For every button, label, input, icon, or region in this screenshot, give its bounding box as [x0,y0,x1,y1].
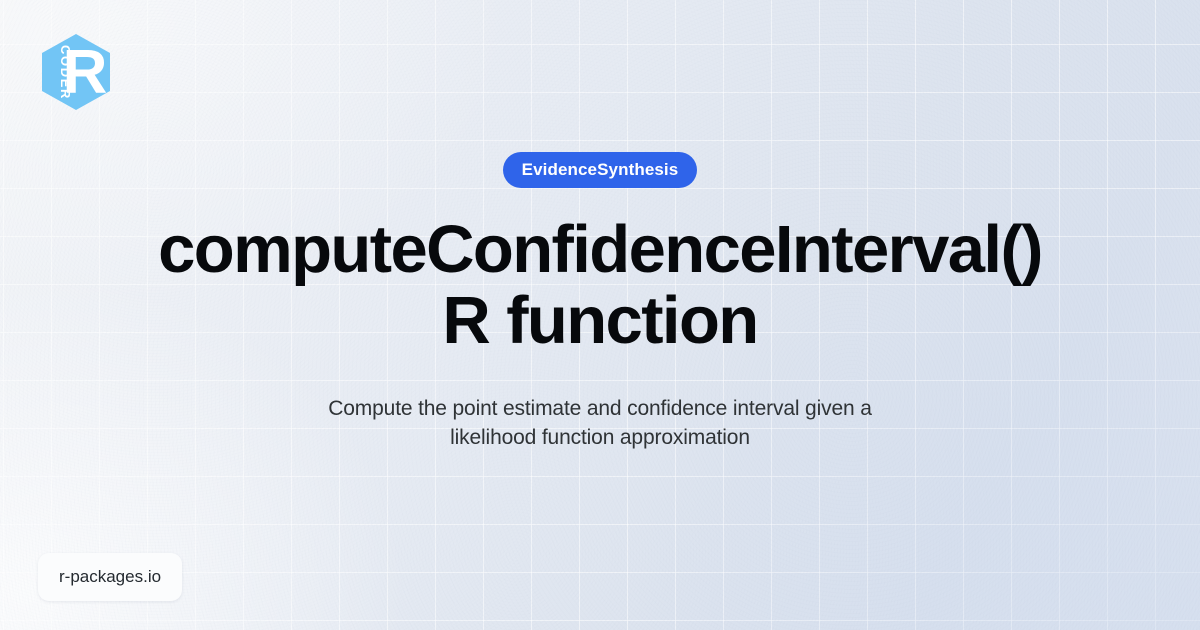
og-card: R CODER EvidenceSynthesis computeConfide… [0,0,1200,630]
page-title: computeConfidenceInterval() R function [158,214,1042,356]
page-subtitle: Compute the point estimate and confidenc… [295,394,905,453]
page-title-line-1: computeConfidenceInterval() [158,212,1042,287]
logo-side-text-coder: CODER [58,45,73,100]
hero-stack: EvidenceSynthesis computeConfidenceInter… [0,152,1200,453]
package-badge[interactable]: EvidenceSynthesis [503,152,698,188]
r-coder-logo[interactable]: R CODER [40,33,112,111]
page-title-line-2: R function [442,283,757,358]
site-url-chip[interactable]: r-packages.io [38,553,182,601]
